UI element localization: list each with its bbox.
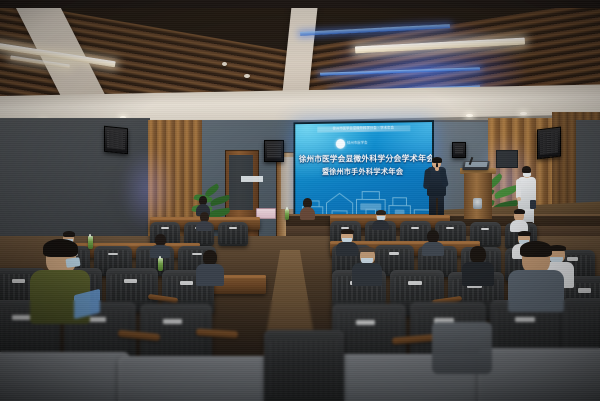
- bag-on-seat: [432, 322, 492, 374]
- slide-logo-text: 徐州市医学会: [347, 141, 367, 146]
- slide-title-line1: 徐州市医学会显微外科学分会学术年会: [299, 153, 428, 164]
- ceiling-sensor-2: [244, 74, 250, 78]
- staff-hair: [522, 166, 531, 173]
- wall-speaker-right: [537, 127, 561, 160]
- staff-hand: [517, 197, 521, 201]
- conference-hall-photo: 徐州市医学会显微外科学分会 · 学术年会 徐州市医学会 徐州市医学会显微外科学分…: [0, 0, 600, 401]
- attendee-foreground-right: [508, 244, 564, 308]
- presenter-hand: [435, 167, 439, 171]
- attendee-r3-4: [422, 230, 444, 254]
- face-mask-strap-icon: [65, 257, 80, 268]
- attendee-r2-3: [462, 246, 494, 284]
- seat-front-center[interactable]: [264, 330, 344, 401]
- lectern-body: [464, 173, 492, 219]
- water-bottle-1: [285, 209, 289, 220]
- wall-sign: [241, 176, 263, 182]
- desk-row4-right-edge: [330, 215, 450, 218]
- lectern-laptop: [462, 161, 490, 170]
- face-mask-icon: [523, 173, 531, 177]
- water-bottle-3: [158, 258, 163, 271]
- wall-speaker-mid: [264, 140, 284, 162]
- attendee-r4-2: [372, 210, 389, 228]
- logo-emblem-icon: [336, 138, 345, 148]
- attendee-far-2: [300, 198, 315, 218]
- presenter-with-microphone: [424, 158, 450, 220]
- attendee-r3-2: [150, 234, 170, 256]
- downlight-4: [520, 112, 527, 115]
- slide-logo: 徐州市医学会: [336, 138, 389, 149]
- attendee-r2-1: [196, 250, 224, 284]
- slide-title-line2: 暨徐州市手外科学术年会: [299, 166, 428, 177]
- wall-speaker-left: [104, 126, 128, 155]
- wall-frame-right: [496, 150, 518, 168]
- presenter-hair: [432, 157, 442, 163]
- screen-slide: 徐州市医学会显微外科学分会 · 学术年会 徐州市医学会 徐州市医学会显微外科学分…: [295, 122, 432, 226]
- attendee-r2-2: [352, 248, 382, 284]
- ceiling-sensor-1: [222, 62, 227, 66]
- downlight-3: [466, 114, 473, 117]
- staff-bag: [530, 200, 536, 209]
- lectern-emblem-icon: [473, 198, 482, 209]
- attendee-r4-1: [196, 212, 212, 228]
- wooden-lectern: [462, 168, 494, 220]
- seat-r4-3[interactable]: [218, 222, 248, 246]
- wall-speaker-stage: [452, 142, 466, 158]
- attendee-r4-3: [510, 210, 528, 230]
- seat-cushion-front-1[interactable]: [0, 352, 130, 401]
- staff-arm: [516, 179, 521, 199]
- seat-cushion-front-4[interactable]: [478, 348, 600, 401]
- ceiling-top-edge: [0, 0, 600, 8]
- seat-cushion-front-2[interactable]: [118, 356, 278, 401]
